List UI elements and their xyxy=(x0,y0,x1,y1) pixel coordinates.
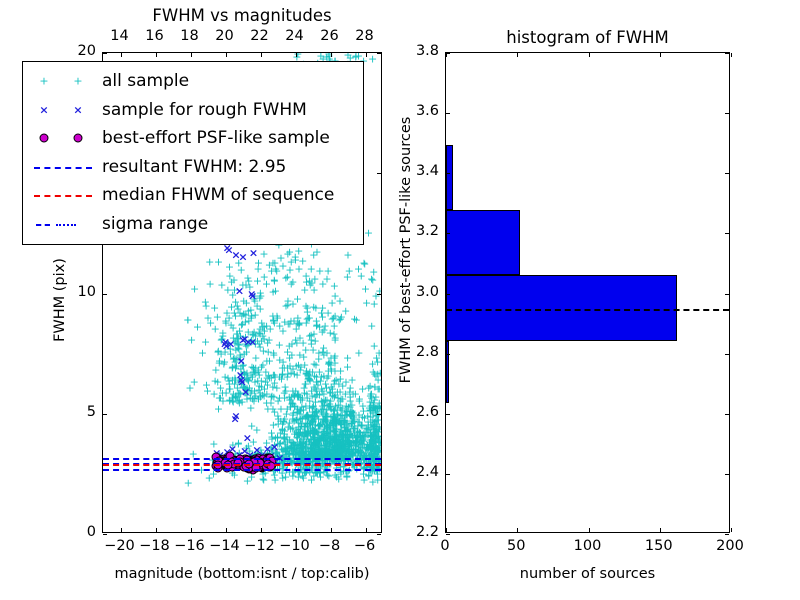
data-point: + xyxy=(273,433,282,444)
data-point: + xyxy=(370,299,379,310)
data-point: + xyxy=(338,443,347,454)
data-point: + xyxy=(334,379,343,390)
data-point: + xyxy=(332,437,341,448)
data-point: + xyxy=(248,328,257,339)
data-point: + xyxy=(336,410,345,421)
data-point: + xyxy=(296,424,305,435)
data-point: + xyxy=(309,437,318,448)
y-tick xyxy=(446,233,450,234)
data-point: + xyxy=(338,445,347,456)
legend-item-resultant-fwhm[interactable]: resultant FWHM: 2.95 xyxy=(30,153,354,182)
data-point: + xyxy=(273,431,282,442)
data-point: + xyxy=(331,436,340,447)
legend-item-all-sample[interactable]: + + all sample xyxy=(30,67,354,96)
data-point: + xyxy=(296,426,305,437)
reference-line-sigma-range-lower xyxy=(103,469,381,471)
y-tick xyxy=(446,294,450,295)
data-point: + xyxy=(365,402,374,413)
data-point: + xyxy=(365,437,374,448)
data-point: + xyxy=(324,53,333,60)
data-point: + xyxy=(301,421,310,432)
data-point: + xyxy=(370,437,379,448)
data-point: + xyxy=(320,430,329,441)
data-point: + xyxy=(253,335,262,346)
data-point: + xyxy=(362,451,371,462)
data-point: + xyxy=(258,330,267,341)
data-point: + xyxy=(250,296,259,307)
data-point: + xyxy=(347,444,356,455)
data-point: + xyxy=(244,375,253,386)
data-point: + xyxy=(238,396,247,407)
data-point: + xyxy=(231,392,240,403)
data-point: + xyxy=(299,382,308,393)
data-point: + xyxy=(291,385,300,396)
x-tick xyxy=(156,53,157,57)
data-point: + xyxy=(321,440,330,451)
data-point: + xyxy=(372,442,381,453)
data-point: + xyxy=(369,441,378,452)
data-point: + xyxy=(272,266,281,277)
data-point: + xyxy=(332,447,341,458)
data-point: + xyxy=(217,334,226,345)
data-point: + xyxy=(370,417,379,428)
data-point: + xyxy=(335,429,344,440)
data-point: + xyxy=(268,450,277,461)
data-point: + xyxy=(322,372,331,383)
data-point: + xyxy=(257,336,266,347)
data-point: + xyxy=(280,434,289,445)
data-point: + xyxy=(220,357,229,368)
data-point: + xyxy=(374,446,381,457)
data-point: + xyxy=(343,409,352,420)
data-point: + xyxy=(240,370,249,381)
data-point: + xyxy=(326,434,335,445)
data-point: + xyxy=(315,419,324,430)
data-point: + xyxy=(239,359,248,370)
data-point: + xyxy=(330,444,339,455)
data-point: + xyxy=(301,412,310,423)
data-point: + xyxy=(374,430,381,441)
data-point: + xyxy=(374,434,381,445)
data-point: + xyxy=(228,361,237,372)
data-point: + xyxy=(302,277,311,288)
x-tick xyxy=(446,53,447,57)
legend-item-psf-sample[interactable]: best-effort PSF-like sample xyxy=(30,124,354,153)
data-point: + xyxy=(327,433,336,444)
data-point: + xyxy=(335,440,344,451)
data-point: + xyxy=(242,297,251,308)
data-point: + xyxy=(325,435,334,446)
data-point: + xyxy=(336,418,345,429)
data-point: + xyxy=(285,340,294,351)
data-point: + xyxy=(321,444,330,455)
data-point: + xyxy=(285,247,294,258)
histogram-axes[interactable] xyxy=(445,52,730,533)
data-point: + xyxy=(289,438,298,449)
data-point: + xyxy=(335,432,344,443)
data-point: + xyxy=(351,438,360,449)
data-point: + xyxy=(312,389,321,400)
data-point: + xyxy=(331,374,340,385)
legend-item-sigma-range[interactable]: sigma range xyxy=(30,210,354,239)
data-point: + xyxy=(218,388,227,399)
data-point: + xyxy=(345,428,354,439)
data-point: + xyxy=(271,433,280,444)
data-point: + xyxy=(301,417,310,428)
data-point: + xyxy=(296,428,305,439)
data-point: + xyxy=(260,325,269,336)
data-point: + xyxy=(298,443,307,454)
data-point: + xyxy=(336,437,345,448)
data-point: + xyxy=(349,408,358,419)
data-point: + xyxy=(278,445,287,456)
data-point: + xyxy=(371,403,380,414)
data-point: + xyxy=(241,384,250,395)
y-tick xyxy=(103,294,107,295)
data-point: + xyxy=(309,451,318,462)
left-xaxis-label: magnitude (bottom:isnt / top:calib) xyxy=(102,566,382,582)
data-point: + xyxy=(337,450,346,461)
left-panel-title: FWHM vs magnitudes xyxy=(102,6,382,25)
data-point: + xyxy=(349,445,358,456)
data-point: + xyxy=(369,403,378,414)
data-point: + xyxy=(319,404,328,415)
data-point: + xyxy=(231,344,240,355)
data-point: + xyxy=(257,318,266,329)
data-point: + xyxy=(312,316,321,327)
data-point: + xyxy=(346,392,355,403)
data-point: + xyxy=(267,372,276,383)
data-point: + xyxy=(229,322,238,333)
data-point: + xyxy=(333,446,342,457)
data-point: + xyxy=(369,430,378,441)
data-point: + xyxy=(305,426,314,437)
data-point: + xyxy=(374,441,381,452)
data-point: + xyxy=(306,444,315,455)
data-point: + xyxy=(305,402,314,413)
data-point: + xyxy=(263,403,272,414)
data-point: + xyxy=(284,421,293,432)
data-point: + xyxy=(277,443,286,454)
data-point: + xyxy=(365,405,374,416)
data-point: + xyxy=(309,429,318,440)
data-point: + xyxy=(363,441,372,452)
data-point: + xyxy=(300,378,309,389)
data-point: + xyxy=(221,347,230,358)
x-tick xyxy=(331,53,332,57)
data-point: + xyxy=(354,432,363,443)
data-point: + xyxy=(320,400,329,411)
data-point: + xyxy=(225,383,234,394)
data-point: + xyxy=(330,413,339,424)
data-point: + xyxy=(291,334,300,345)
data-point: + xyxy=(282,442,291,453)
data-point: + xyxy=(287,440,296,451)
data-point: + xyxy=(305,451,314,462)
data-point: + xyxy=(335,386,344,397)
data-point: + xyxy=(364,425,373,436)
data-point: + xyxy=(327,403,336,414)
data-point: + xyxy=(366,432,375,443)
x-tick xyxy=(261,528,262,532)
data-point: + xyxy=(367,320,376,331)
data-point: + xyxy=(364,471,373,482)
data-point: + xyxy=(364,419,373,430)
data-point: + xyxy=(337,405,346,416)
data-point: + xyxy=(307,411,316,422)
data-point: + xyxy=(213,312,222,323)
data-point: + xyxy=(314,419,323,430)
data-point: + xyxy=(310,409,319,420)
data-point: + xyxy=(371,442,380,453)
data-point: + xyxy=(330,389,339,400)
data-point: + xyxy=(326,327,335,338)
data-point: + xyxy=(364,442,373,453)
data-point: + xyxy=(251,391,260,402)
data-point: + xyxy=(281,300,290,311)
data-point: + xyxy=(296,365,305,376)
data-point: + xyxy=(348,431,357,442)
data-point: + xyxy=(332,418,341,429)
data-point: + xyxy=(237,264,246,275)
data-point: + xyxy=(351,441,360,452)
data-point: + xyxy=(271,285,280,296)
data-point: + xyxy=(376,438,381,449)
data-point: + xyxy=(343,440,352,451)
data-point: + xyxy=(293,403,302,414)
data-point: + xyxy=(297,421,306,432)
data-point: + xyxy=(269,370,278,381)
data-point: + xyxy=(312,407,321,418)
right-yaxis-label: FWHM of best-effort PSF-like sources xyxy=(398,60,414,440)
data-point: + xyxy=(259,345,268,356)
data-point: + xyxy=(346,440,355,451)
x-ticklabel: 200 xyxy=(708,538,752,554)
data-point: + xyxy=(360,451,369,462)
data-point: + xyxy=(281,446,290,457)
data-point: + xyxy=(308,415,317,426)
data-point: + xyxy=(292,407,301,418)
data-point: + xyxy=(320,433,329,444)
data-point: + xyxy=(306,376,315,387)
data-point: + xyxy=(348,388,357,399)
data-point: + xyxy=(319,406,328,417)
plot-legend[interactable]: + + all sample × × sample for rough FWHM… xyxy=(22,61,364,245)
data-point: + xyxy=(286,437,295,448)
data-point: + xyxy=(286,401,295,412)
data-point: + xyxy=(244,305,253,316)
data-point: + xyxy=(329,415,338,426)
data-point: + xyxy=(368,274,377,285)
data-point: + xyxy=(285,418,294,429)
data-point: + xyxy=(366,441,375,452)
data-point: + xyxy=(324,365,333,376)
data-point: + xyxy=(307,330,316,341)
data-point: + xyxy=(318,326,327,337)
data-point: + xyxy=(318,385,327,396)
data-point: + xyxy=(316,435,325,446)
data-point: + xyxy=(301,271,310,282)
legend-item-median-fhwm[interactable]: median FHWM of sequence xyxy=(30,181,354,210)
data-point: + xyxy=(326,364,335,375)
data-point: + xyxy=(234,344,243,355)
data-point: + xyxy=(310,426,319,437)
data-point: + xyxy=(256,323,265,334)
data-point: + xyxy=(310,441,319,452)
data-point: + xyxy=(309,284,318,295)
data-point: + xyxy=(304,412,313,423)
data-point: + xyxy=(364,228,373,239)
data-point: + xyxy=(292,432,301,443)
x-tick xyxy=(731,53,732,57)
data-point: + xyxy=(335,296,344,307)
data-point: + xyxy=(311,407,320,418)
data-point: + xyxy=(242,394,251,405)
data-point: + xyxy=(294,318,303,329)
data-point: + xyxy=(247,386,256,397)
data-point: + xyxy=(275,320,284,331)
data-point: + xyxy=(285,395,294,406)
data-point: + xyxy=(243,339,252,350)
data-point: + xyxy=(309,446,318,457)
data-point: + xyxy=(230,308,239,319)
data-point: + xyxy=(318,302,327,313)
data-point: + xyxy=(307,277,316,288)
data-point: + xyxy=(353,451,362,462)
data-point: + xyxy=(335,450,344,461)
data-point: + xyxy=(337,420,346,431)
data-point: + xyxy=(319,442,328,453)
data-point: + xyxy=(351,447,360,458)
data-point: + xyxy=(249,436,258,447)
data-point: + xyxy=(230,373,239,384)
data-point: + xyxy=(352,315,361,326)
data-point: + xyxy=(234,376,243,387)
data-point: + xyxy=(290,415,299,426)
data-point: + xyxy=(348,417,357,428)
data-point: + xyxy=(298,442,307,453)
data-point: + xyxy=(336,440,345,451)
data-point: + xyxy=(293,441,302,452)
data-point: + xyxy=(201,297,210,308)
data-point: + xyxy=(293,414,302,425)
data-point: + xyxy=(301,443,310,454)
data-point: + xyxy=(339,416,348,427)
data-point: + xyxy=(250,385,259,396)
data-point: + xyxy=(249,327,258,338)
legend-label: all sample xyxy=(102,71,189,91)
data-point: + xyxy=(374,383,382,394)
data-point: + xyxy=(296,395,305,406)
data-point: + xyxy=(375,442,381,453)
data-point: + xyxy=(371,290,380,301)
data-point: + xyxy=(265,356,274,367)
data-point: + xyxy=(209,438,218,449)
data-point: + xyxy=(324,471,333,482)
data-point: + xyxy=(258,474,267,485)
data-point: + xyxy=(371,415,380,426)
data-point: + xyxy=(256,287,265,298)
data-point: + xyxy=(353,420,362,431)
data-point: + xyxy=(280,438,289,449)
data-point: + xyxy=(297,412,306,423)
data-point: + xyxy=(361,426,370,437)
data-point: + xyxy=(270,276,279,287)
data-point: + xyxy=(298,414,307,425)
data-point: + xyxy=(342,471,351,482)
x-tick xyxy=(517,528,518,532)
data-point: + xyxy=(235,340,244,351)
data-point: + xyxy=(343,427,352,438)
data-point: + xyxy=(256,290,265,301)
data-point: + xyxy=(335,446,344,457)
data-point: + xyxy=(366,417,375,428)
data-point: + xyxy=(337,424,346,435)
data-point: + xyxy=(374,434,381,445)
data-point: + xyxy=(368,443,377,454)
data-point: + xyxy=(247,336,256,347)
data-point: + xyxy=(342,470,351,481)
x-tick xyxy=(660,53,661,57)
data-point: + xyxy=(312,376,321,387)
data-point: + xyxy=(363,411,372,422)
data-point: + xyxy=(239,308,248,319)
data-point: + xyxy=(353,431,362,442)
data-point: + xyxy=(290,444,299,455)
data-point: + xyxy=(216,393,225,404)
data-point: + xyxy=(248,394,257,405)
data-point: + xyxy=(218,328,227,339)
data-point: + xyxy=(336,396,345,407)
data-point: × xyxy=(231,411,240,422)
data-point: + xyxy=(369,399,378,410)
data-point: + xyxy=(370,341,379,352)
data-point: + xyxy=(280,362,289,373)
data-point: + xyxy=(248,372,257,383)
data-point: + xyxy=(329,445,338,456)
data-point: + xyxy=(306,417,315,428)
data-point: + xyxy=(366,405,375,416)
x-tick xyxy=(331,528,332,532)
data-point: + xyxy=(306,429,315,440)
data-point: + xyxy=(308,417,317,428)
data-point: + xyxy=(205,257,214,268)
data-point: + xyxy=(363,445,372,456)
legend-item-rough-fwhm[interactable]: × × sample for rough FWHM xyxy=(30,96,354,125)
data-point: + xyxy=(328,415,337,426)
data-point: + xyxy=(290,401,299,412)
data-point: + xyxy=(183,315,192,326)
reference-line-sigma-range-upper xyxy=(103,458,381,460)
data-point: + xyxy=(251,310,260,321)
data-point: + xyxy=(294,263,303,274)
data-point: + xyxy=(288,470,297,481)
y-tick xyxy=(446,534,450,535)
data-point: + xyxy=(293,440,302,451)
data-point: × xyxy=(235,286,244,297)
data-point: + xyxy=(360,413,369,424)
data-point: + xyxy=(302,428,311,439)
data-point: + xyxy=(275,392,284,403)
data-point: + xyxy=(269,466,278,477)
data-point: + xyxy=(217,280,226,291)
data-point: + xyxy=(268,257,277,268)
data-point: + xyxy=(366,390,375,401)
data-point: + xyxy=(371,440,380,451)
data-point: + xyxy=(359,436,368,447)
data-point: + xyxy=(321,379,330,390)
data-point: + xyxy=(270,440,279,451)
